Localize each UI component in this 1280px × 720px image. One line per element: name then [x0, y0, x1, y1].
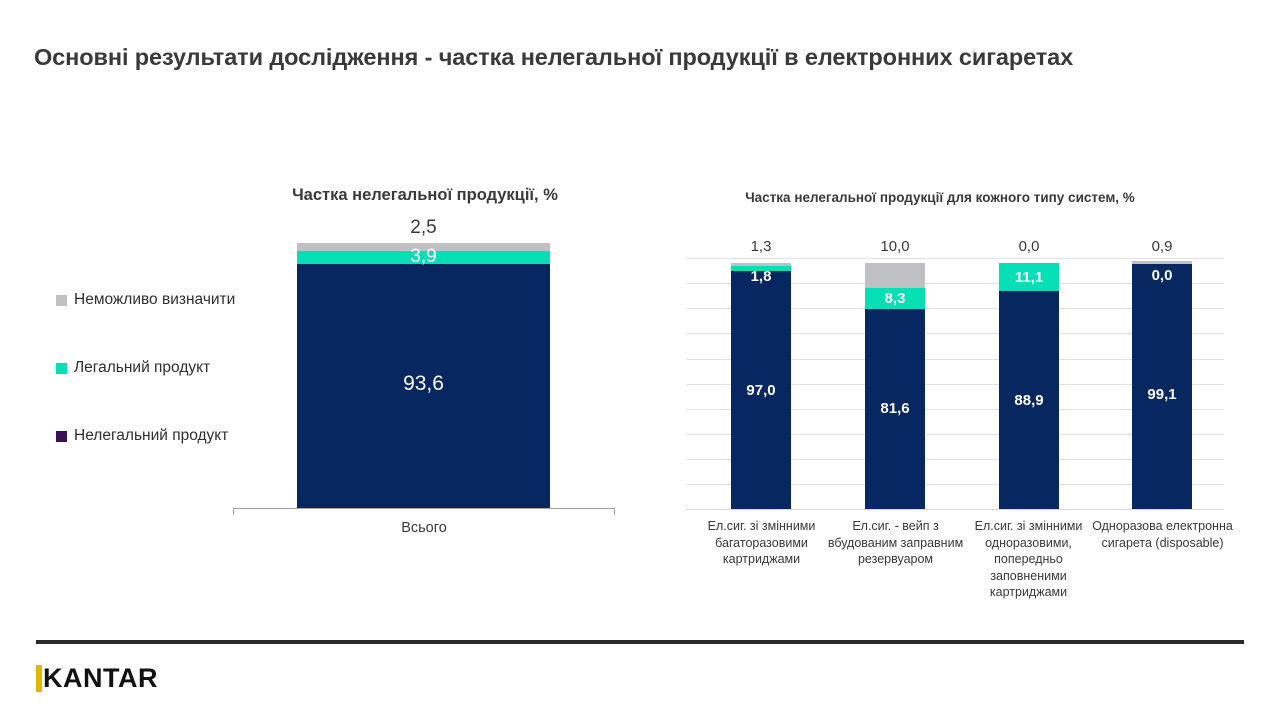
data-label-illegal: 93,6 [297, 372, 550, 396]
data-label-illegal: 97,0 [731, 382, 791, 399]
category-label-3: Ел.сиг. зі змінними одноразовими, попере… [956, 518, 1101, 601]
right-chart-plot: 1,8 97,0 1,3 8,3 81,6 10,0 11,1 88,9 0,0… [686, 258, 1224, 510]
category-label-1: Ел.сиг. зі змінними багаторазовими картр… [689, 518, 834, 568]
data-label-undetermined: 0,0 [979, 238, 1079, 255]
right-chart-title: Частка нелегальної продукції для кожного… [672, 190, 1208, 205]
data-label-legal: 8,3 [865, 290, 925, 307]
data-label-legal: 0,0 [1132, 267, 1192, 284]
axis-tick-end [614, 508, 615, 515]
legend-item-label: Легальний продукт [74, 358, 210, 378]
axis-tick-start [233, 508, 234, 515]
data-label-undetermined: 10,0 [845, 238, 945, 255]
page-title: Основні результати дослідження - частка … [34, 44, 1249, 71]
bar-segment-undetermined[interactable] [865, 263, 925, 288]
category-label-total: Всього [233, 520, 615, 536]
data-label-illegal: 99,1 [1132, 386, 1192, 403]
data-label-undetermined: 1,3 [711, 238, 811, 255]
logo-text: KANTAR [43, 665, 158, 692]
square-swatch-icon [56, 363, 67, 374]
right-chart-baseline [686, 509, 1224, 510]
left-chart-title: Частка нелегальної продукції, % [250, 186, 600, 205]
data-label-undetermined: 0,9 [1112, 238, 1212, 255]
category-label-4: Одноразова електронна сигарета (disposab… [1090, 518, 1235, 551]
square-swatch-icon [56, 295, 67, 306]
footer-divider [36, 640, 1244, 644]
data-label-illegal: 81,6 [865, 400, 925, 417]
left-chart-axis-line [233, 508, 615, 509]
legend-item-label: Нелегальний продукт [74, 426, 228, 446]
bar-group-2: 8,3 81,6 [865, 258, 925, 510]
category-label-2: Ел.сиг. - вейп з вбудованим заправним ре… [823, 518, 968, 568]
square-swatch-icon [56, 431, 67, 442]
data-label-legal: 11,1 [999, 269, 1059, 286]
logo-accent-bar-icon [36, 665, 42, 692]
data-label-legal: 1,8 [731, 268, 791, 285]
kantar-logo: KANTAR [36, 665, 158, 692]
data-label-illegal: 88,9 [999, 392, 1059, 409]
data-label-legal: 3,9 [297, 246, 550, 268]
bar-group-4: 0,0 99,1 [1132, 258, 1192, 510]
bar-group-3: 11,1 88,9 [999, 258, 1059, 510]
data-label-undetermined: 2,5 [297, 217, 550, 239]
left-chart-plot: 2,5 3,9 93,6 Всього [233, 215, 615, 510]
bar-group-1: 1,8 97,0 [731, 258, 791, 510]
slide-canvas: Основні результати дослідження - частка … [0, 0, 1280, 720]
legend-item-label: Неможливо визначити [74, 290, 235, 310]
